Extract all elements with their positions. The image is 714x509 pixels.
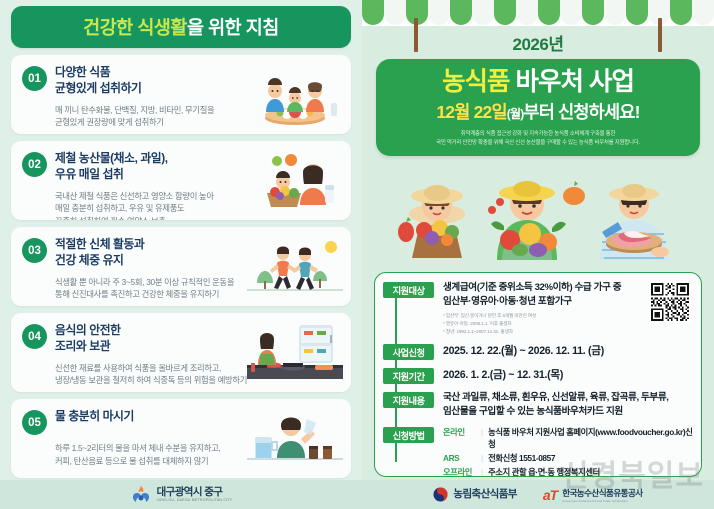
footer-right: 농림축산식품부 aT 한국농수산식품유통공사 Korea Agro-Fisher…: [362, 487, 714, 503]
info-row-support-content: 지원내용 국산 과일류, 채소류, 흰우유, 신선알류, 육류, 잡곡류, 두부…: [383, 391, 693, 419]
tips-list: 01 다양한 식품 균형있게 섭취하기 매 끼니 탄수화물, 단백질, 지방, …: [11, 55, 351, 478]
hero-main-rest: 바우처 사업: [509, 68, 633, 96]
left-title-highlight: 건강한 식생활: [83, 17, 187, 38]
at-name-ko: 한국농수산식품유통공사: [562, 487, 642, 499]
mafra-name-ko: 농림축산식품부: [453, 489, 516, 501]
left-title-bar: 건강한 식생활을 위한 지침: [11, 6, 351, 48]
info-value: 2025. 12. 22.(월) ~ 2026. 12. 11. (금): [443, 343, 693, 358]
left-title-rest: 을 위한 지침: [187, 17, 279, 38]
tip-title: 적절한 신체 활동과 건강 체중 유지: [55, 237, 144, 269]
tip-title: 제철 농산물(채소, 과일), 우유 매일 섭취: [55, 151, 168, 183]
info-value-group: 생계급여(기준 중위소득 32%이하) 수급 가구 중 임산부·영유아·아동·청…: [443, 281, 693, 336]
taegeuk-icon: [433, 487, 448, 502]
daegu-junggu-logo: 대구광역시 중구 JUNG-GU, DAEGU METROPOLITAN CIT…: [130, 485, 233, 505]
hero-sub-rest: 부터 신청하세요!: [523, 102, 639, 122]
info-row-target: 지원대상 생계급여(기준 중위소득 32%이하) 수급 가구 중 임산부·영유아…: [383, 281, 693, 336]
info-row-how-to-apply: 신청방법 온라인 | 농식품 바우처 지원사업 홈페이지(www.foodvou…: [383, 426, 693, 477]
apply-method-label: 오프라인: [443, 466, 481, 477]
apply-divider: |: [481, 427, 483, 437]
tip-number-badge: 04: [22, 324, 47, 349]
mother-child-produce-illustration: [247, 151, 343, 213]
tip-number-badge: 02: [22, 152, 47, 177]
junggu-name-en: JUNG-GU, DAEGU METROPOLITAN CITY: [157, 498, 233, 502]
info-tag: 지원내용: [383, 392, 434, 408]
running-couple-illustration: [247, 237, 343, 299]
tip-card: 05 물 충분히 마시기 하루 1.5~2리터의 물을 마셔 체내 수분을 유지…: [11, 399, 351, 478]
tip-body: 국내산 제철 식품은 신선하고 영양소 함량이 높아 매일 충분히 섭취하고, …: [55, 190, 267, 220]
info-tag: 신청방법: [383, 427, 434, 443]
apply-method-offline: 오프라인 | 주소지 관할 읍·면·동 행정복지센터: [443, 466, 693, 477]
info-row-support-period: 지원기간 2026. 1. 2.(금) ~ 12. 31.(목): [383, 367, 693, 384]
apply-method-label: ARS: [443, 453, 481, 463]
tip-title: 다양한 식품 균형있게 섭취하기: [55, 65, 142, 97]
tip-title: 물 충분히 마시기: [55, 409, 134, 425]
kitchen-cooking-illustration: [247, 323, 343, 385]
apply-divider: |: [481, 453, 483, 463]
info-card: 지원대상 생계급여(기준 중위소득 32%이하) 수급 가구 중 임산부·영유아…: [374, 272, 702, 477]
apply-method-value: 전화신청 1551-0857: [488, 452, 555, 464]
info-notes: * 임산부: 임신 중이거나 분만 후 6개월 미만인 여성 * 영유아·아동:…: [443, 312, 693, 336]
info-tag: 사업신청: [383, 344, 434, 360]
apply-method-label: 온라인: [443, 426, 481, 438]
poster-root: 건강한 식생활을 위한 지침 01 다양한 식품 균형있게 섭취하기 매 끼니 …: [0, 0, 714, 509]
at-logo-text: 한국농수산식품유통공사 Korea Agro-Fisheries & Food …: [562, 487, 642, 503]
junggu-logo-text: 대구광역시 중구 JUNG-GU, DAEGU METROPOLITAN CIT…: [157, 487, 233, 503]
junggu-name-ko: 대구광역시 중구: [157, 487, 233, 499]
junggu-emblem-icon: [130, 485, 152, 505]
mafra-logo: 농림축산식품부: [433, 487, 516, 503]
hero-year: 2026년: [362, 30, 714, 55]
info-value: 2026. 1. 2.(금) ~ 12. 31.(목): [443, 367, 693, 382]
info-row-application-period: 사업신청 2025. 12. 22.(월) ~ 2026. 12. 11. (금…: [383, 343, 693, 360]
hero-section: 2026년 농식품 바우처 사업 12월 22일(월)부터 신청하세요! 취약계…: [362, 26, 714, 156]
at-name-en: Korea Agro-Fisheries & Food Trade Corpor…: [562, 499, 642, 503]
info-value-group: 국산 과일류, 채소류, 흰우유, 신선알류, 육류, 잡곡류, 두부류, 임산…: [443, 391, 693, 419]
info-value: 국산 과일류, 채소류, 흰우유, 신선알류, 육류, 잡곡류, 두부류, 임산…: [443, 391, 693, 419]
three-farmers-with-produce-illustration: [362, 172, 714, 260]
hero-main-highlight: 농식품: [442, 68, 509, 96]
left-title-text: 건강한 식생활을 위한 지침: [83, 14, 279, 40]
hero-box: 농식품 바우처 사업 12월 22일(월)부터 신청하세요! 취약계층의 식품 …: [376, 59, 700, 156]
info-value: 생계급여(기준 중위소득 32%이하) 수급 가구 중 임산부·영유아·아동·청…: [443, 281, 693, 309]
family-meal-illustration: [247, 65, 343, 127]
hero-sub-paren: (월): [507, 107, 524, 121]
tip-number-badge: 01: [22, 66, 47, 91]
footer-left: 대구광역시 중구 JUNG-GU, DAEGU METROPOLITAN CIT…: [0, 485, 362, 505]
tip-card: 04 음식의 안전한 조리와 보관 신선한 재료를 사용하여 식품을 올바르게 …: [11, 313, 351, 392]
hero-main-title: 농식품 바우처 사업: [384, 68, 692, 96]
tip-card: 02 제철 농산물(채소, 과일), 우유 매일 섭취 국내산 제철 식품은 신…: [11, 141, 351, 220]
tip-title: 음식의 안전한 조리와 보관: [55, 323, 121, 355]
left-panel: 건강한 식생활을 위한 지침 01 다양한 식품 균형있게 섭취하기 매 끼니 …: [0, 0, 362, 509]
info-value-group: 2026. 1. 2.(금) ~ 12. 31.(목): [443, 367, 693, 384]
info-tag: 지원대상: [383, 282, 434, 298]
tip-body: 식생활 뿐 아니라 주 3~5회, 30분 이상 규칙적인 운동을 통해 신진대…: [55, 276, 267, 301]
tip-body: 신선한 재료를 사용하여 식품을 올바르게 조리하고, 냉장/냉동 보관을 철저…: [55, 362, 267, 387]
apply-method-value: 주소지 관할 읍·면·동 행정복지센터: [488, 466, 600, 477]
apply-methods: 온라인 | 농식품 바우처 지원사업 홈페이지(www.foodvoucher.…: [443, 426, 693, 477]
hero-note: 취약계층의 식품 접근성 강화 및 지속가능한 농식품 소비체계 구축을 통한 …: [384, 130, 692, 147]
apply-divider: |: [481, 467, 483, 477]
apply-method-ars: ARS | 전화신청 1551-0857: [443, 452, 693, 464]
at-mark-text: aT: [543, 487, 557, 503]
hero-subtitle: 12월 22일(월)부터 신청하세요!: [384, 99, 692, 124]
right-panel: 2026년 농식품 바우처 사업 12월 22일(월)부터 신청하세요! 취약계…: [362, 0, 714, 509]
tip-body: 하루 1.5~2리터의 물을 마셔 체내 수분을 유지하고, 커피, 탄산음료 …: [55, 442, 267, 467]
tip-body: 매 끼니 탄수화물, 단백질, 지방, 비타민, 무기질을 균형있게 권장량에 …: [55, 104, 267, 129]
hero-sub-date: 12월 22일: [436, 102, 506, 122]
tip-card: 01 다양한 식품 균형있게 섭취하기 매 끼니 탄수화물, 단백질, 지방, …: [11, 55, 351, 134]
footer: 대구광역시 중구 JUNG-GU, DAEGU METROPOLITAN CIT…: [0, 480, 714, 509]
apply-method-online: 온라인 | 농식품 바우처 지원사업 홈페이지(www.foodvoucher.…: [443, 426, 693, 450]
man-drinking-water-illustration: [247, 409, 343, 471]
apply-method-value[interactable]: 농식품 바우처 지원사업 홈페이지(www.foodvoucher.go.kr)…: [488, 426, 693, 450]
info-value-group: 2025. 12. 22.(월) ~ 2026. 12. 11. (금): [443, 343, 693, 360]
info-tag: 지원기간: [383, 368, 434, 384]
at-corporation-logo: aT 한국농수산식품유통공사 Korea Agro-Fisheries & Fo…: [543, 487, 643, 503]
tip-number-badge: 03: [22, 238, 47, 263]
tip-card: 03 적절한 신체 활동과 건강 체중 유지 식생활 뿐 아니라 주 3~5회,…: [11, 227, 351, 306]
tip-number-badge: 05: [22, 410, 47, 435]
